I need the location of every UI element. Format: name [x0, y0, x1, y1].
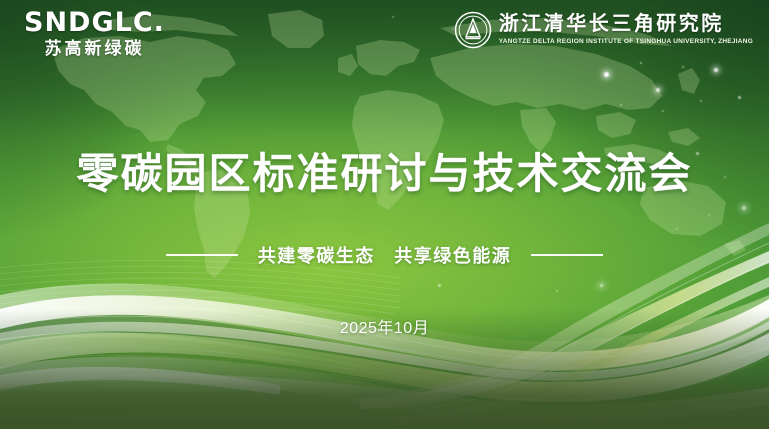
page-title: 零碳园区标准研讨与技术交流会	[0, 148, 769, 200]
logo-wordmark: SNDGLC.	[24, 8, 165, 38]
logo-tsinghua-institute: 浙江清华长三角研究院 YANGTZE DELTA REGION INSTITUT…	[454, 11, 753, 49]
conference-poster: SNDGLC. 苏高新绿碳 浙江清华长三角研究院 YANGTZE DELTA R…	[0, 0, 769, 429]
poster-subtitle: 共建零碳生态 共享绿色能源	[258, 242, 512, 268]
tsinghua-crest-icon	[454, 11, 492, 49]
logo-sndglc: SNDGLC. 苏高新绿碳	[24, 8, 165, 60]
horizontal-rule-left-icon	[166, 254, 238, 256]
poster-header: SNDGLC. 苏高新绿碳 浙江清华长三角研究院 YANGTZE DELTA R…	[0, 0, 769, 70]
institute-english-name: YANGTZE DELTA REGION INSTITUTE OF TSINGH…	[499, 36, 753, 47]
logo-chinese-name: 苏高新绿碳	[24, 38, 165, 60]
horizontal-rule-right-icon	[531, 254, 603, 256]
poster-date: 2025年10月	[0, 314, 769, 338]
subtitle-row: 共建零碳生态 共享绿色能源	[0, 242, 769, 268]
institute-chinese-name: 浙江清华长三角研究院	[499, 13, 753, 36]
